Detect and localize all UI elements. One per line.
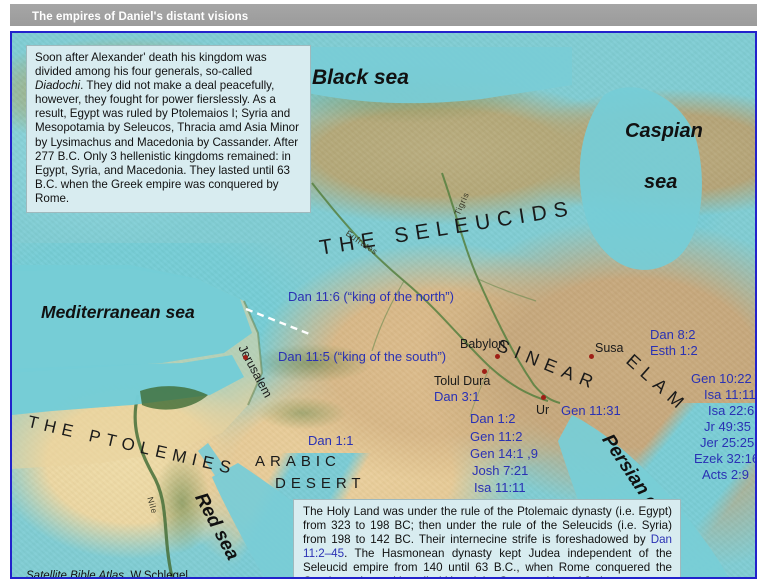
source-credit: Satellite Bible Atlas, W.Schlegel Used b… <box>26 569 188 579</box>
map-frame[interactable]: Black sea Caspian sea Mediterranean sea … <box>10 31 757 579</box>
info-box-holy-land-text: The Holy Land was under the rule of the … <box>303 505 672 579</box>
ref-isa-11-11-right[interactable]: Isa 11:11 <box>704 388 756 401</box>
page-title: The empires of Daniel's distant visions <box>32 11 248 23</box>
city-label-tolul-dura: Tolul Dura <box>434 375 490 388</box>
ref-esth-1-2[interactable]: Esth 1:2 <box>650 344 698 357</box>
city-label-susa: Susa <box>595 342 624 355</box>
ref-dan-1-2[interactable]: Dan 1:2 <box>470 412 516 425</box>
ref-gen-11-2[interactable]: Gen 11:2 <box>470 430 523 443</box>
caspian-shape <box>580 87 702 270</box>
sea-label-black-sea: Black sea <box>312 67 409 88</box>
ref-dan-11-5[interactable]: Dan 11:5 (“king of the south”) <box>278 350 446 363</box>
ref-dan-11-6[interactable]: Dan 11:6 (“king of the north”) <box>288 290 454 303</box>
ref-dan-8-2[interactable]: Dan 8:2 <box>650 328 696 341</box>
ref-gen-14-1-9[interactable]: Gen 14:1 ,9 <box>470 447 538 460</box>
credit-source-title: Satellite Bible Atlas <box>26 570 124 579</box>
ref-jer-25-25[interactable]: Jer 25:25 <box>700 436 754 449</box>
ref-isa-11-11-center[interactable]: Isa 11:11 <box>474 481 526 494</box>
ref-gen-11-31[interactable]: Gen 11:31 <box>561 404 621 417</box>
info-box-diadochi-text: Soon after Alexander' death his kingdom … <box>35 51 299 205</box>
ref-acts-2-9[interactable]: Acts 2:9 <box>702 468 749 481</box>
sea-label-caspian-sea-line2: sea <box>644 172 677 192</box>
city-dot-ur <box>541 395 546 400</box>
sea-label-caspian-sea-line1: Caspian <box>625 121 703 141</box>
region-label-arabic-desert-line2: DESERT <box>275 476 366 491</box>
ref-gen-10-22[interactable]: Gen 10:22 <box>691 372 752 385</box>
city-dot-susa <box>589 354 594 359</box>
city-label-ur: Ur <box>536 404 549 417</box>
map-page: The empires of Daniel's distant visions <box>0 0 767 585</box>
sea-label-mediterranean-sea: Mediterranean sea <box>41 304 195 322</box>
map-canvas[interactable]: Black sea Caspian sea Mediterranean sea … <box>12 33 755 577</box>
ref-jr-49-35[interactable]: Jr 49:35 <box>704 420 751 433</box>
ref-ezek-32-16[interactable]: Ezek 32:16 <box>694 452 757 465</box>
credit-author: , W.Schlegel <box>124 570 188 579</box>
ref-dan-1-1[interactable]: Dan 1:1 <box>308 434 354 447</box>
ref-josh-7-21[interactable]: Josh 7:21 <box>472 464 528 477</box>
info-box-holy-land: The Holy Land was under the rule of the … <box>293 499 681 579</box>
info-box-diadochi: Soon after Alexander' death his kingdom … <box>26 45 311 213</box>
city-label-babylon: Babylon <box>460 338 505 351</box>
title-bar: The empires of Daniel's distant visions <box>10 4 757 26</box>
city-dot-babylon <box>495 354 500 359</box>
city-dot-jerusalem <box>243 355 248 360</box>
ref-isa-22-6[interactable]: Isa 22:6 <box>708 404 754 417</box>
ref-dan-3-1[interactable]: Dan 3:1 <box>434 390 480 403</box>
region-label-arabic-desert-line1: ARABIC <box>255 454 341 469</box>
